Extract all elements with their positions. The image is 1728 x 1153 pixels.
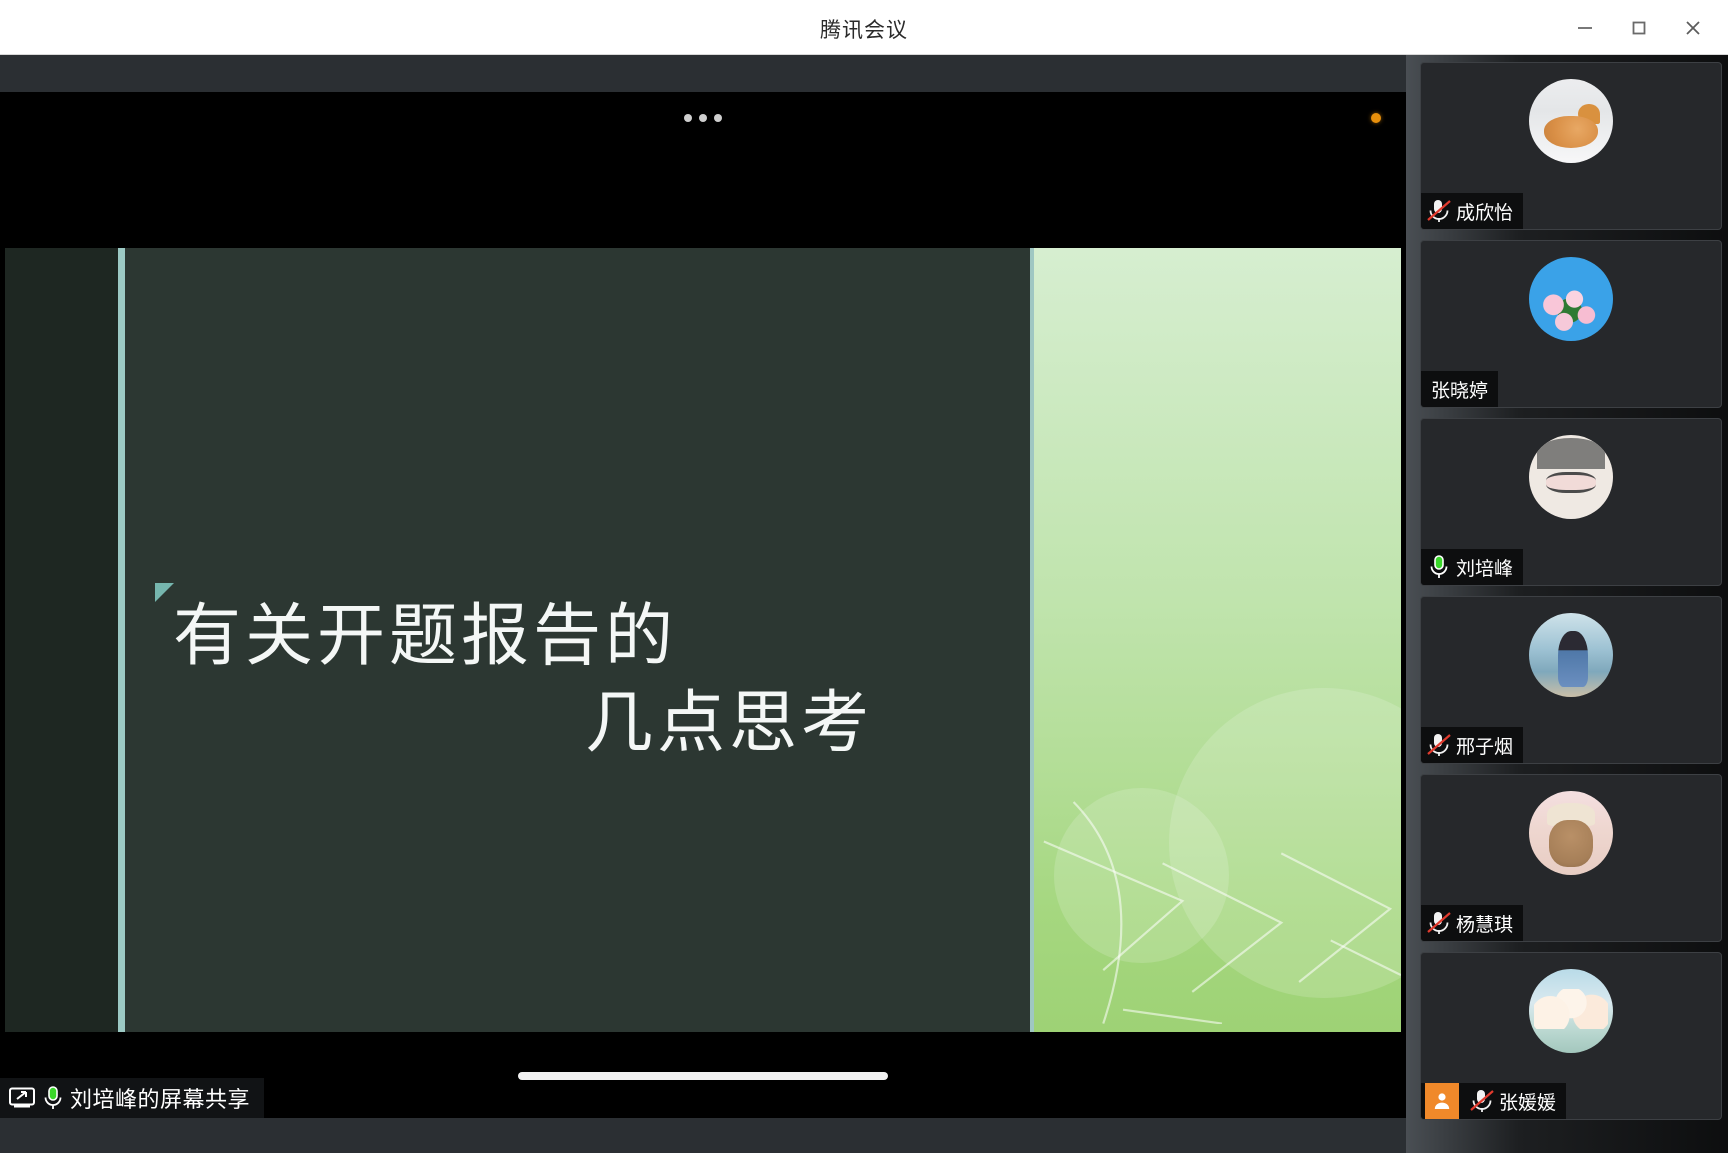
participant-name: 张媛媛 xyxy=(1499,1088,1556,1115)
participant-name: 邢子烟 xyxy=(1456,732,1513,759)
close-icon xyxy=(1683,18,1703,38)
participant-tile[interactable]: 张媛媛 xyxy=(1420,952,1722,1120)
avatar xyxy=(1529,969,1613,1053)
host-badge xyxy=(1425,1083,1459,1119)
mic-muted-icon xyxy=(1425,910,1453,936)
screen-share-icon xyxy=(8,1086,36,1110)
presentation-slide: 有关开题报告的 几点思考 xyxy=(5,248,1401,1032)
participant-nametag: 成欣怡 xyxy=(1421,193,1523,229)
minimize-button[interactable] xyxy=(1558,8,1612,48)
slide-title-line-2: 几点思考 xyxy=(173,680,873,767)
participant-nametag: 刘培峰 xyxy=(1421,549,1523,585)
shared-screen-content: 有关开题报告的 几点思考 xyxy=(0,92,1406,1118)
participant-tile[interactable]: 杨慧琪 xyxy=(1420,774,1722,942)
screen-share-label-text: 刘培峰的屏幕共享 xyxy=(70,1082,250,1114)
maximize-button[interactable] xyxy=(1612,8,1666,48)
avatar xyxy=(1529,79,1613,163)
participant-nametag: 杨慧琪 xyxy=(1421,905,1523,941)
avatar xyxy=(1529,613,1613,697)
slide-title: 有关开题报告的 几点思考 xyxy=(173,593,873,767)
mic-muted-icon xyxy=(1468,1088,1496,1114)
participant-tile[interactable]: 刘培峰 xyxy=(1420,418,1722,586)
shared-screen-viewport[interactable]: 有关开题报告的 几点思考 xyxy=(0,55,1406,1118)
mic-muted-icon xyxy=(1425,732,1453,758)
close-button[interactable] xyxy=(1666,8,1720,48)
tencent-meeting-window: 腾讯会议 xyxy=(0,0,1728,1153)
maximize-icon xyxy=(1629,18,1649,38)
meeting-body: 有关开题报告的 几点思考 xyxy=(0,55,1728,1153)
minimize-icon xyxy=(1575,18,1595,38)
mic-on-icon xyxy=(1425,554,1453,580)
participant-nametag: 张晓婷 xyxy=(1421,371,1498,407)
more-dots-icon[interactable] xyxy=(684,114,722,122)
slide-title-line-1: 有关开题报告的 xyxy=(173,593,873,680)
title-bar: 腾讯会议 xyxy=(0,0,1728,55)
mic-on-icon xyxy=(42,1085,64,1111)
participant-tile[interactable]: 成欣怡 xyxy=(1420,62,1722,230)
participant-tile[interactable]: 邢子烟 xyxy=(1420,596,1722,764)
home-indicator-bar xyxy=(518,1072,888,1080)
participant-name: 成欣怡 xyxy=(1456,198,1513,225)
slide-chevron-decoration xyxy=(1034,248,1401,1024)
mic-muted-icon xyxy=(1425,198,1453,224)
window-controls xyxy=(1558,0,1720,55)
slide-left-strip xyxy=(5,248,118,1032)
slide-triangle-decoration xyxy=(155,583,174,602)
participant-name: 张晓婷 xyxy=(1425,376,1488,403)
recording-indicator xyxy=(1371,113,1381,123)
screen-share-label: 刘培峰的屏幕共享 xyxy=(0,1078,264,1118)
window-title: 腾讯会议 xyxy=(0,14,1728,44)
person-icon xyxy=(1432,1091,1452,1111)
participant-tile[interactable]: 张晓婷 xyxy=(1420,240,1722,408)
avatar xyxy=(1529,257,1613,341)
participant-nametag: 张媛媛 xyxy=(1421,1083,1566,1119)
avatar xyxy=(1529,435,1613,519)
participant-nametag: 邢子烟 xyxy=(1421,727,1523,763)
participant-name: 杨慧琪 xyxy=(1456,910,1513,937)
avatar xyxy=(1529,791,1613,875)
participant-name: 刘培峰 xyxy=(1456,554,1513,581)
slide-accent-line xyxy=(118,248,125,1032)
participants-sidebar[interactable]: 成欣怡 张晓婷 刘培峰 xyxy=(1406,55,1728,1153)
slide-green-panel xyxy=(1030,248,1401,1032)
